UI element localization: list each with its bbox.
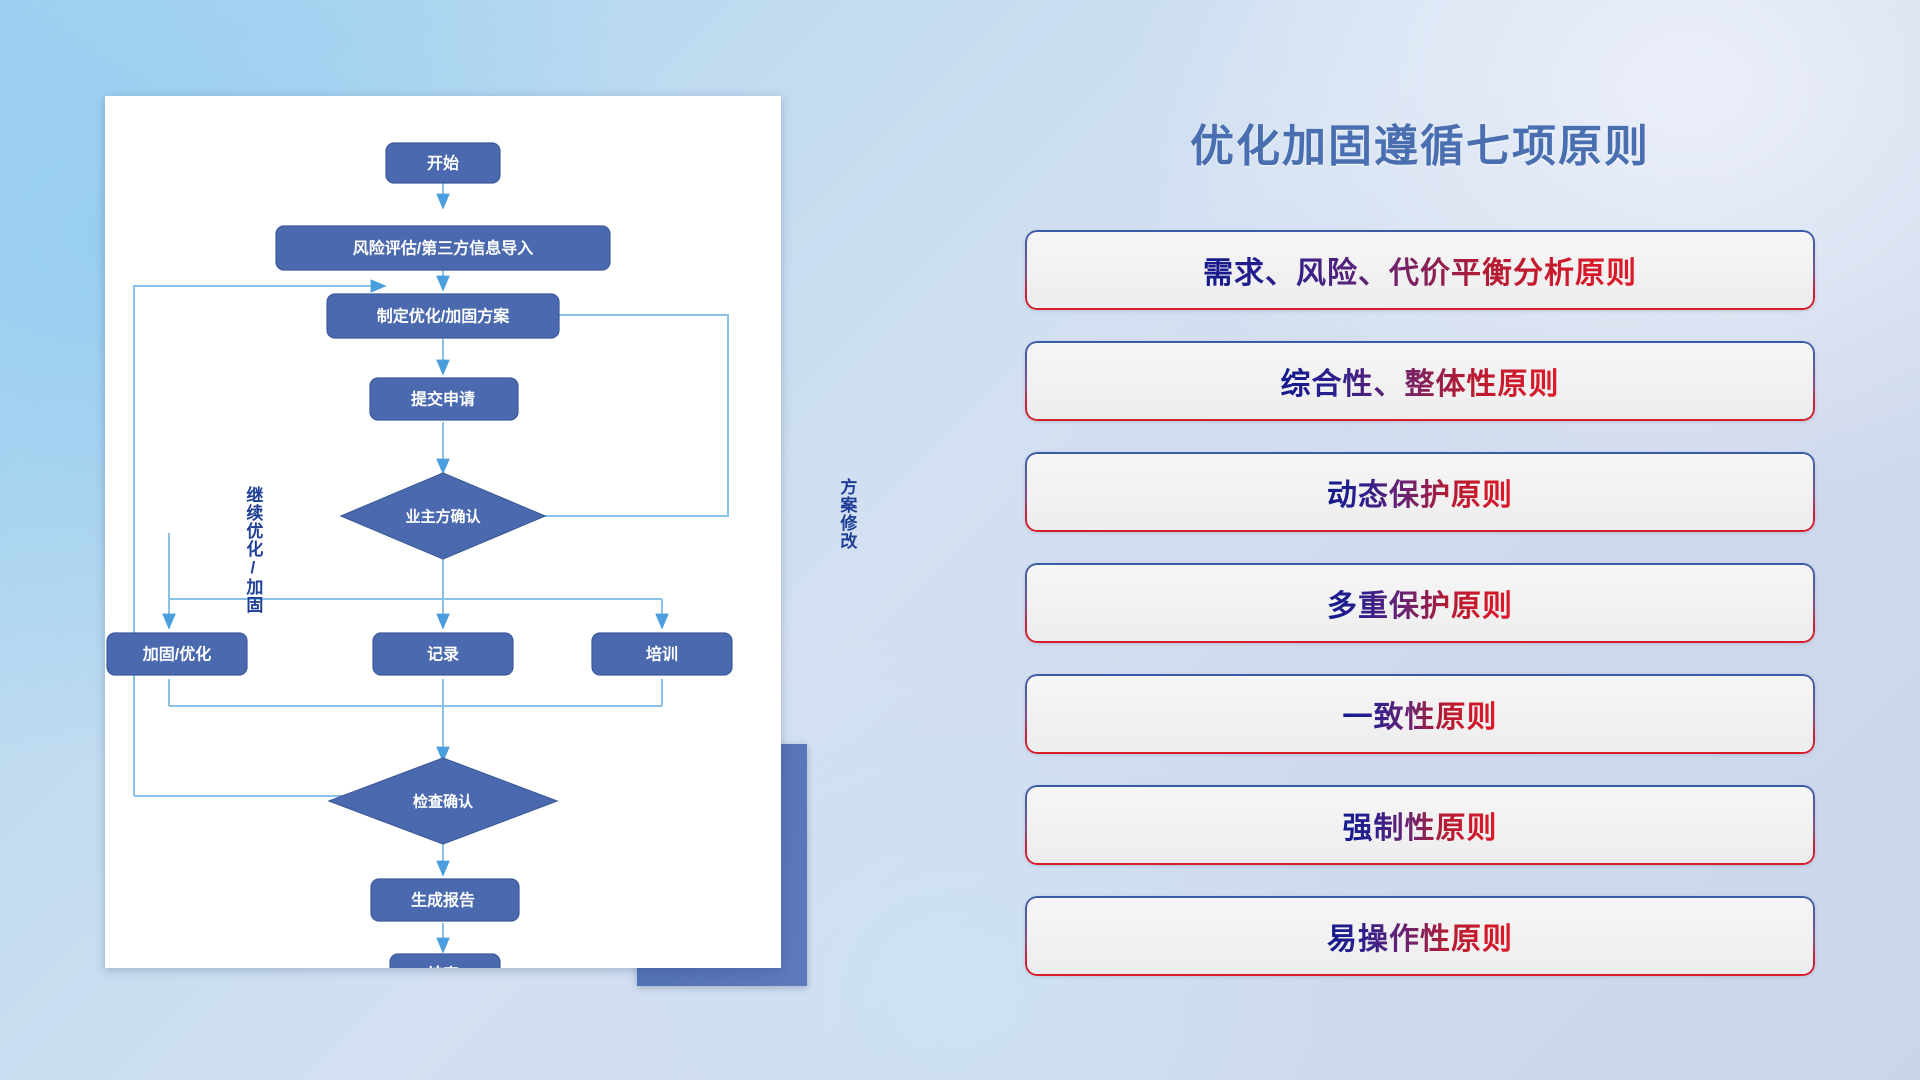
principles-list: 需求、风险、代价平衡分析原则 综合性、整体性原则 动态保护原则 多重保护原则 一…	[1025, 230, 1815, 1007]
principle-item-label: 动态保护原则	[1327, 470, 1513, 514]
flowchart-card: 开始 风险评估/第三方信息导入 制定优化/加固方案 提交申请 业主方确认 加固/…	[105, 96, 781, 968]
node-report-label: 生成报告	[411, 891, 475, 910]
principle-item[interactable]: 强制性原则	[1025, 785, 1815, 865]
edge-label-plan-revision: 方案修改	[838, 478, 855, 550]
node-submit-label: 提交申请	[411, 390, 475, 409]
principle-item[interactable]: 一致性原则	[1025, 674, 1815, 754]
node-plan-label: 制定优化/加固方案	[377, 307, 510, 326]
edge-label-continue-optimize: 继续优化/加固	[244, 486, 261, 614]
edge-plan-revision-loop	[488, 315, 728, 516]
panel-title: 优化加固遵循七项原则	[1020, 110, 1820, 174]
principle-item[interactable]: 需求、风险、代价平衡分析原则	[1025, 230, 1815, 310]
flowchart-diagram: 开始 风险评估/第三方信息导入 制定优化/加固方案 提交申请 业主方确认 加固/…	[105, 96, 781, 968]
node-training-label: 培训	[646, 645, 678, 664]
node-reinforce-label: 加固/优化	[142, 645, 211, 664]
node-record-label: 记录	[427, 646, 459, 664]
principle-item[interactable]: 多重保护原则	[1025, 563, 1815, 643]
node-start-label: 开始	[427, 154, 459, 173]
principle-item[interactable]: 综合性、整体性原则	[1025, 341, 1815, 421]
principle-item[interactable]: 动态保护原则	[1025, 452, 1815, 532]
slide-canvas: 开始 风险评估/第三方信息导入 制定优化/加固方案 提交申请 业主方确认 加固/…	[0, 0, 1920, 1080]
principle-item-label: 一致性原则	[1343, 692, 1498, 736]
principle-item-label: 易操作性原则	[1327, 914, 1513, 958]
node-owner-confirm-label: 业主方确认	[405, 508, 481, 526]
principle-item-label: 需求、风险、代价平衡分析原则	[1203, 248, 1637, 292]
node-risk-assessment-label: 风险评估/第三方信息导入	[353, 239, 533, 258]
principle-item[interactable]: 易操作性原则	[1025, 896, 1815, 976]
principle-item-label: 多重保护原则	[1327, 581, 1513, 625]
principle-item-label: 综合性、整体性原则	[1281, 359, 1560, 403]
principle-item-label: 强制性原则	[1343, 803, 1498, 847]
node-check-confirm-label: 检查确认	[413, 793, 474, 811]
